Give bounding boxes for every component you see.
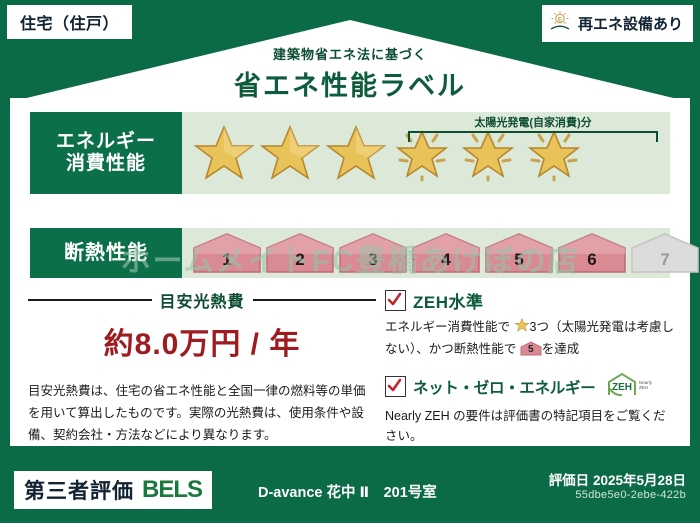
checkmark-icon bbox=[385, 290, 406, 311]
footer-bar: 第三者評価 BELS D-avance 花中 Ⅱ 201号室 評価日 2025年… bbox=[0, 461, 700, 523]
title-subtitle: 建築物省エネ法に基づく bbox=[0, 44, 700, 63]
cost-heading-row: 目安光熱費 bbox=[28, 288, 376, 312]
level-number: 5 bbox=[514, 250, 523, 274]
checkmark-icon bbox=[385, 376, 406, 397]
insulation-level-group: 1 2 3 4 5 6 7 bbox=[182, 228, 700, 278]
star-filled bbox=[324, 122, 388, 184]
zeh-section: ZEH水準 エネルギー消費性能で 3つ（太陽光発電は考慮しない）、かつ断熱性能で… bbox=[385, 288, 675, 458]
insulation-level-house: 3 bbox=[338, 232, 408, 274]
insulation-caption: 断熱性能 bbox=[30, 228, 182, 278]
title-block: 建築物省エネ法に基づく 省エネ性能ラベル bbox=[0, 44, 700, 103]
bracket-line bbox=[408, 131, 658, 142]
rule-left bbox=[28, 299, 152, 301]
energy-performance-caption: エネルギー 消費性能 bbox=[30, 112, 182, 194]
level-number: 2 bbox=[295, 250, 304, 274]
solar-bracket: 太陽光発電(自家消費)分 bbox=[408, 114, 658, 142]
sun-icon: E bbox=[548, 9, 572, 38]
star-filled bbox=[258, 122, 322, 184]
energy-performance-label: 住宅（住戸） E 再エネ設備あり 建築物省エネ法に基づく 省 bbox=[0, 0, 700, 523]
zeh-standard-block: ZEH水準 エネルギー消費性能で 3つ（太陽光発電は考慮しない）、かつ断熱性能で… bbox=[385, 288, 675, 359]
renewable-equipment-badge: E 再エネ設備あり bbox=[541, 4, 694, 43]
housing-type-tag: 住宅（住戸） bbox=[6, 4, 133, 40]
zeh-body-part-d: を達成 bbox=[542, 342, 580, 356]
net-zero-header: ネット・ゼロ・エネルギー ZEH Nearly ZEH bbox=[385, 371, 675, 402]
rule-right bbox=[253, 299, 377, 301]
level-number: 4 bbox=[441, 250, 450, 274]
zeh-body-part-a: エネルギー消費性能で bbox=[385, 320, 510, 334]
insulation-level-house: 5 bbox=[484, 232, 554, 274]
level-number: 1 bbox=[222, 250, 231, 274]
zeh-standard-header: ZEH水準 bbox=[385, 288, 675, 313]
level-number: 6 bbox=[587, 250, 596, 274]
level-number: 3 bbox=[368, 250, 377, 274]
evaluation-date: 評価日 2025年5月28日 bbox=[549, 469, 686, 489]
utility-cost-section: 目安光熱費 約8.0万円 / 年 目安光熱費は、住宅の省エネ性能と全国一律の燃料… bbox=[28, 288, 376, 447]
title-main: 省エネ性能ラベル bbox=[0, 64, 700, 103]
zeh-standard-body: エネルギー消費性能で 3つ（太陽光発電は考慮しない）、かつ断熱性能で 5 を達成 bbox=[385, 317, 675, 359]
cost-heading: 目安光熱費 bbox=[160, 288, 245, 312]
zeh-body-part-b: 3つ（太陽光発電 bbox=[530, 320, 624, 334]
bels-jp-label: 第三者評価 bbox=[24, 475, 134, 505]
insulation-level-house-inactive: 7 bbox=[630, 232, 700, 274]
net-zero-body: Nearly ZEH の要件は評価書の特記項目をご覧ください。 bbox=[385, 406, 675, 446]
inline-level-number: 5 bbox=[520, 342, 542, 358]
evaluation-id: 55dbe5e0-2ebe-422b bbox=[575, 489, 686, 501]
svg-text:ZEH: ZEH bbox=[639, 385, 648, 390]
zeh-standard-title: ZEH水準 bbox=[413, 288, 484, 313]
zeh-logo-icon: ZEH Nearly ZEH bbox=[605, 371, 659, 402]
star-rating-group: 太陽光発電(自家消費)分 bbox=[182, 112, 670, 194]
insulation-level-house: 2 bbox=[265, 232, 335, 274]
inline-insulation-level-icon: 5 bbox=[520, 341, 542, 356]
insulation-level-house: 6 bbox=[557, 232, 627, 274]
svg-text:ZEH: ZEH bbox=[612, 382, 632, 393]
level-number: 7 bbox=[660, 250, 669, 274]
bels-en-label: BELS bbox=[142, 476, 202, 504]
bels-badge: 第三者評価 BELS bbox=[14, 471, 212, 509]
inline-star-icon bbox=[514, 317, 530, 339]
insulation-level-house: 1 bbox=[192, 232, 262, 274]
cost-note: 目安光熱費は、住宅の省エネ性能と全国一律の燃料等の単価を用いて算出したものです。… bbox=[28, 381, 376, 447]
insulation-performance-row: 断熱性能 1 2 3 4 5 6 bbox=[30, 228, 670, 278]
net-zero-title: ネット・ゼロ・エネルギー bbox=[413, 376, 595, 398]
cost-value: 約8.0万円 / 年 bbox=[28, 319, 376, 363]
net-zero-energy-block: ネット・ゼロ・エネルギー ZEH Nearly ZEH Nearly ZEH の… bbox=[385, 371, 675, 446]
energy-performance-row: エネルギー 消費性能 太陽光発電(自家消費)分 bbox=[30, 112, 670, 194]
renewable-badge-label: 再エネ設備あり bbox=[578, 13, 683, 34]
insulation-level-house: 4 bbox=[411, 232, 481, 274]
star-filled bbox=[192, 122, 256, 184]
svg-text:E: E bbox=[558, 16, 563, 23]
building-name: D-avance 花中 Ⅱ 201号室 bbox=[258, 481, 437, 502]
solar-bracket-label: 太陽光発電(自家消費)分 bbox=[408, 114, 658, 130]
